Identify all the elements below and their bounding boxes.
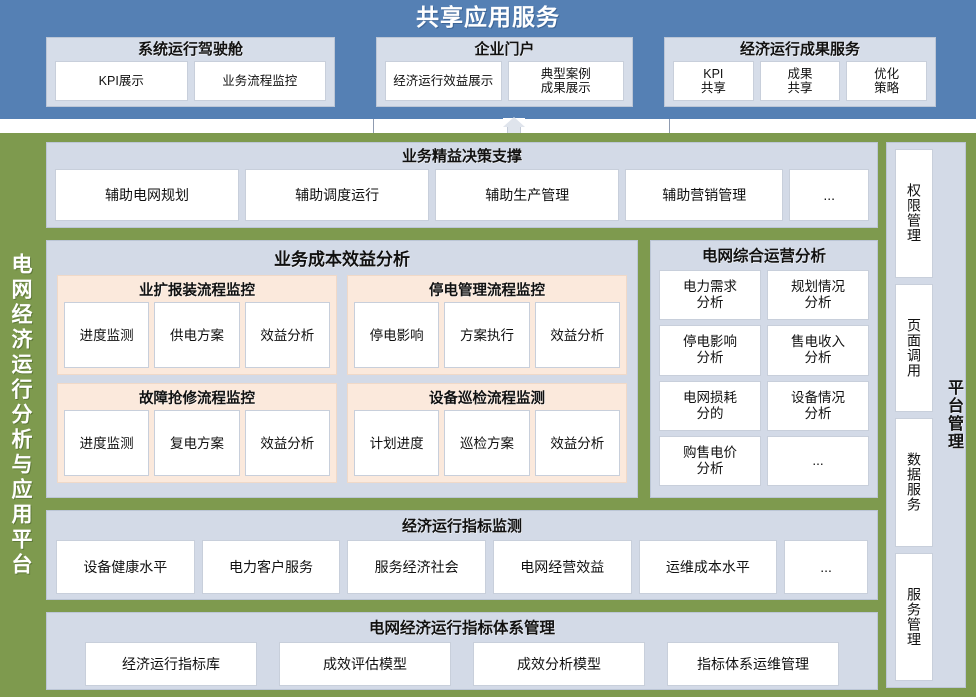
chip-indicator-system-om-management[interactable]: 指标体系运维管理: [667, 642, 839, 686]
chip-data-service-label: 数据服务: [906, 452, 922, 512]
panel-indicator-system-management-title: 电网经济运行指标体系管理: [47, 613, 877, 642]
chip-data-service[interactable]: 数据服务: [895, 418, 933, 547]
subblock-fault-repair-process-monitor-title: 故障抢修流程监控: [64, 388, 330, 410]
chip-monitor-more[interactable]: ...: [784, 540, 868, 594]
card-enterprise-portal-title: 企业门户: [377, 38, 632, 61]
chip-outage-impact-analysis[interactable]: 停电影响分析: [659, 325, 761, 375]
chip-result-share[interactable]: 成果共享: [760, 61, 841, 101]
chip-equipment-status-analysis[interactable]: 设备情况分析: [767, 381, 869, 431]
subblock-fault-repair-process-monitor: 故障抢修流程监控 进度监测 复电方案 效益分析: [57, 383, 337, 483]
chip-decision-more[interactable]: ...: [789, 169, 869, 221]
chip-inspection-plan[interactable]: 巡检方案: [444, 410, 529, 476]
chip-business-process-monitor[interactable]: 业务流程监控: [194, 61, 327, 101]
chip-expansion-progress-monitor[interactable]: 进度监测: [64, 302, 149, 368]
panel-economic-indicator-monitoring: 经济运行指标监测 设备健康水平 电力客户服务 服务经济社会 电网经营效益 运维成…: [46, 510, 878, 600]
chip-grid-operation-benefit[interactable]: 电网经营效益: [493, 540, 632, 594]
chip-dispatch-operation-support[interactable]: 辅助调度运行: [245, 169, 429, 221]
chip-page-invocation-label: 页面调用: [906, 318, 922, 378]
subblock-equipment-inspection-process-monitor-title: 设备巡检流程监测: [354, 388, 620, 410]
chip-repair-progress-monitor[interactable]: 进度监测: [64, 410, 149, 476]
chip-outage-benefit-analysis[interactable]: 效益分析: [535, 302, 620, 368]
connector-line-left: [373, 119, 374, 133]
panel-grid-integrated-operation-analysis: 电网综合运营分析 电力需求分析 规划情况分析 停电影响分析 售电收入分析 电网损…: [650, 240, 878, 498]
chip-permission-management[interactable]: 权限管理: [895, 149, 933, 278]
chip-equipment-health-level[interactable]: 设备健康水平: [56, 540, 195, 594]
chip-expansion-power-supply-plan[interactable]: 供电方案: [154, 302, 239, 368]
chip-typical-case-display[interactable]: 典型案例成果展示: [508, 61, 625, 101]
subblock-outage-process-monitor-title: 停电管理流程监控: [354, 280, 620, 302]
chip-operations-more[interactable]: ...: [767, 436, 869, 486]
chip-outage-impact[interactable]: 停电影响: [354, 302, 439, 368]
chip-grid-planning-support[interactable]: 辅助电网规划: [55, 169, 239, 221]
chip-electricity-price-analysis[interactable]: 购售电价分析: [659, 436, 761, 486]
card-economic-result-service-title: 经济运行成果服务: [665, 38, 935, 61]
subblock-equipment-inspection-process-monitor: 设备巡检流程监测 计划进度 巡检方案 效益分析: [347, 383, 627, 483]
platform-name-vertical: 电网经济运行分析与应用平台: [9, 253, 31, 578]
chip-electricity-sales-revenue-analysis[interactable]: 售电收入分析: [767, 325, 869, 375]
card-enterprise-portal[interactable]: 企业门户 经济运行效益展示 典型案例成果展示: [376, 37, 633, 107]
shared-application-services-band: 共享应用服务 系统运行驾驶舱 KPI展示 业务流程监控 企业门户 经济运行效益展…: [0, 0, 976, 119]
subblock-expansion-process-monitor: 业扩报装流程监控 进度监测 供电方案 效益分析: [57, 275, 337, 375]
chip-service-economy-society[interactable]: 服务经济社会: [347, 540, 486, 594]
panel-platform-management: 平台管理 权限管理 页面调用 数据服务 服务管理: [886, 142, 966, 688]
panel-grid-integrated-operation-analysis-title: 电网综合运营分析: [651, 241, 877, 270]
chip-outage-plan-execution[interactable]: 方案执行: [444, 302, 529, 368]
chip-service-management[interactable]: 服务管理: [895, 553, 933, 682]
architecture-diagram: 共享应用服务 系统运行驾驶舱 KPI展示 业务流程监控 企业门户 经济运行效益展…: [0, 0, 976, 697]
chip-service-management-label: 服务管理: [906, 587, 922, 647]
panel-indicator-system-management: 电网经济运行指标体系管理 经济运行指标库 成效评估模型 成效分析模型 指标体系运…: [46, 612, 878, 690]
connector-line-right: [669, 119, 670, 133]
chip-economic-benefit-display[interactable]: 经济运行效益展示: [385, 61, 502, 101]
chip-marketing-management-support[interactable]: 辅助营销管理: [625, 169, 783, 221]
chip-expansion-benefit-analysis[interactable]: 效益分析: [245, 302, 330, 368]
page-title: 共享应用服务: [0, 2, 976, 32]
chip-power-customer-service[interactable]: 电力客户服务: [202, 540, 341, 594]
card-system-cockpit[interactable]: 系统运行驾驶舱 KPI展示 业务流程监控: [46, 37, 335, 107]
chip-page-invocation[interactable]: 页面调用: [895, 284, 933, 413]
chip-production-management-support[interactable]: 辅助生产管理: [435, 169, 619, 221]
panel-economic-indicator-monitoring-title: 经济运行指标监测: [47, 511, 877, 540]
chip-effect-evaluation-model[interactable]: 成效评估模型: [279, 642, 451, 686]
card-economic-result-service[interactable]: 经济运行成果服务 KPI共享 成果共享 优化策略: [664, 37, 936, 107]
chip-inspection-plan-progress[interactable]: 计划进度: [354, 410, 439, 476]
platform-left-title-bar: 电网经济运行分析与应用平台: [0, 133, 40, 697]
chip-repair-benefit-analysis[interactable]: 效益分析: [245, 410, 330, 476]
chip-grid-loss-analysis[interactable]: 电网损耗分的: [659, 381, 761, 431]
chip-om-cost-level[interactable]: 运维成本水平: [639, 540, 778, 594]
panel-decision-support-title: 业务精益决策支撑: [47, 143, 877, 169]
chip-kpi-share[interactable]: KPI共享: [673, 61, 754, 101]
panel-cost-benefit-analysis-title: 业务成本效益分析: [47, 241, 637, 275]
chip-economic-indicator-library[interactable]: 经济运行指标库: [85, 642, 257, 686]
card-system-cockpit-title: 系统运行驾驶舱: [47, 38, 334, 61]
platform-management-title: 平台管理: [938, 379, 962, 451]
chip-permission-management-label: 权限管理: [906, 183, 922, 243]
panel-decision-support: 业务精益决策支撑 辅助电网规划 辅助调度运行 辅助生产管理 辅助营销管理 ...: [46, 142, 878, 228]
subblock-expansion-process-monitor-title: 业扩报装流程监控: [64, 280, 330, 302]
panel-cost-benefit-analysis: 业务成本效益分析 业扩报装流程监控 进度监测 供电方案 效益分析 停电管理流程监…: [46, 240, 638, 498]
chip-repair-restoration-plan[interactable]: 复电方案: [154, 410, 239, 476]
chip-optimization-strategy[interactable]: 优化策略: [846, 61, 927, 101]
chip-effect-analysis-model[interactable]: 成效分析模型: [473, 642, 645, 686]
chip-power-demand-analysis[interactable]: 电力需求分析: [659, 270, 761, 320]
subblock-outage-process-monitor: 停电管理流程监控 停电影响 方案执行 效益分析: [347, 275, 627, 375]
chip-inspection-benefit-analysis[interactable]: 效益分析: [535, 410, 620, 476]
chip-kpi-display[interactable]: KPI展示: [55, 61, 188, 101]
chip-planning-status-analysis[interactable]: 规划情况分析: [767, 270, 869, 320]
